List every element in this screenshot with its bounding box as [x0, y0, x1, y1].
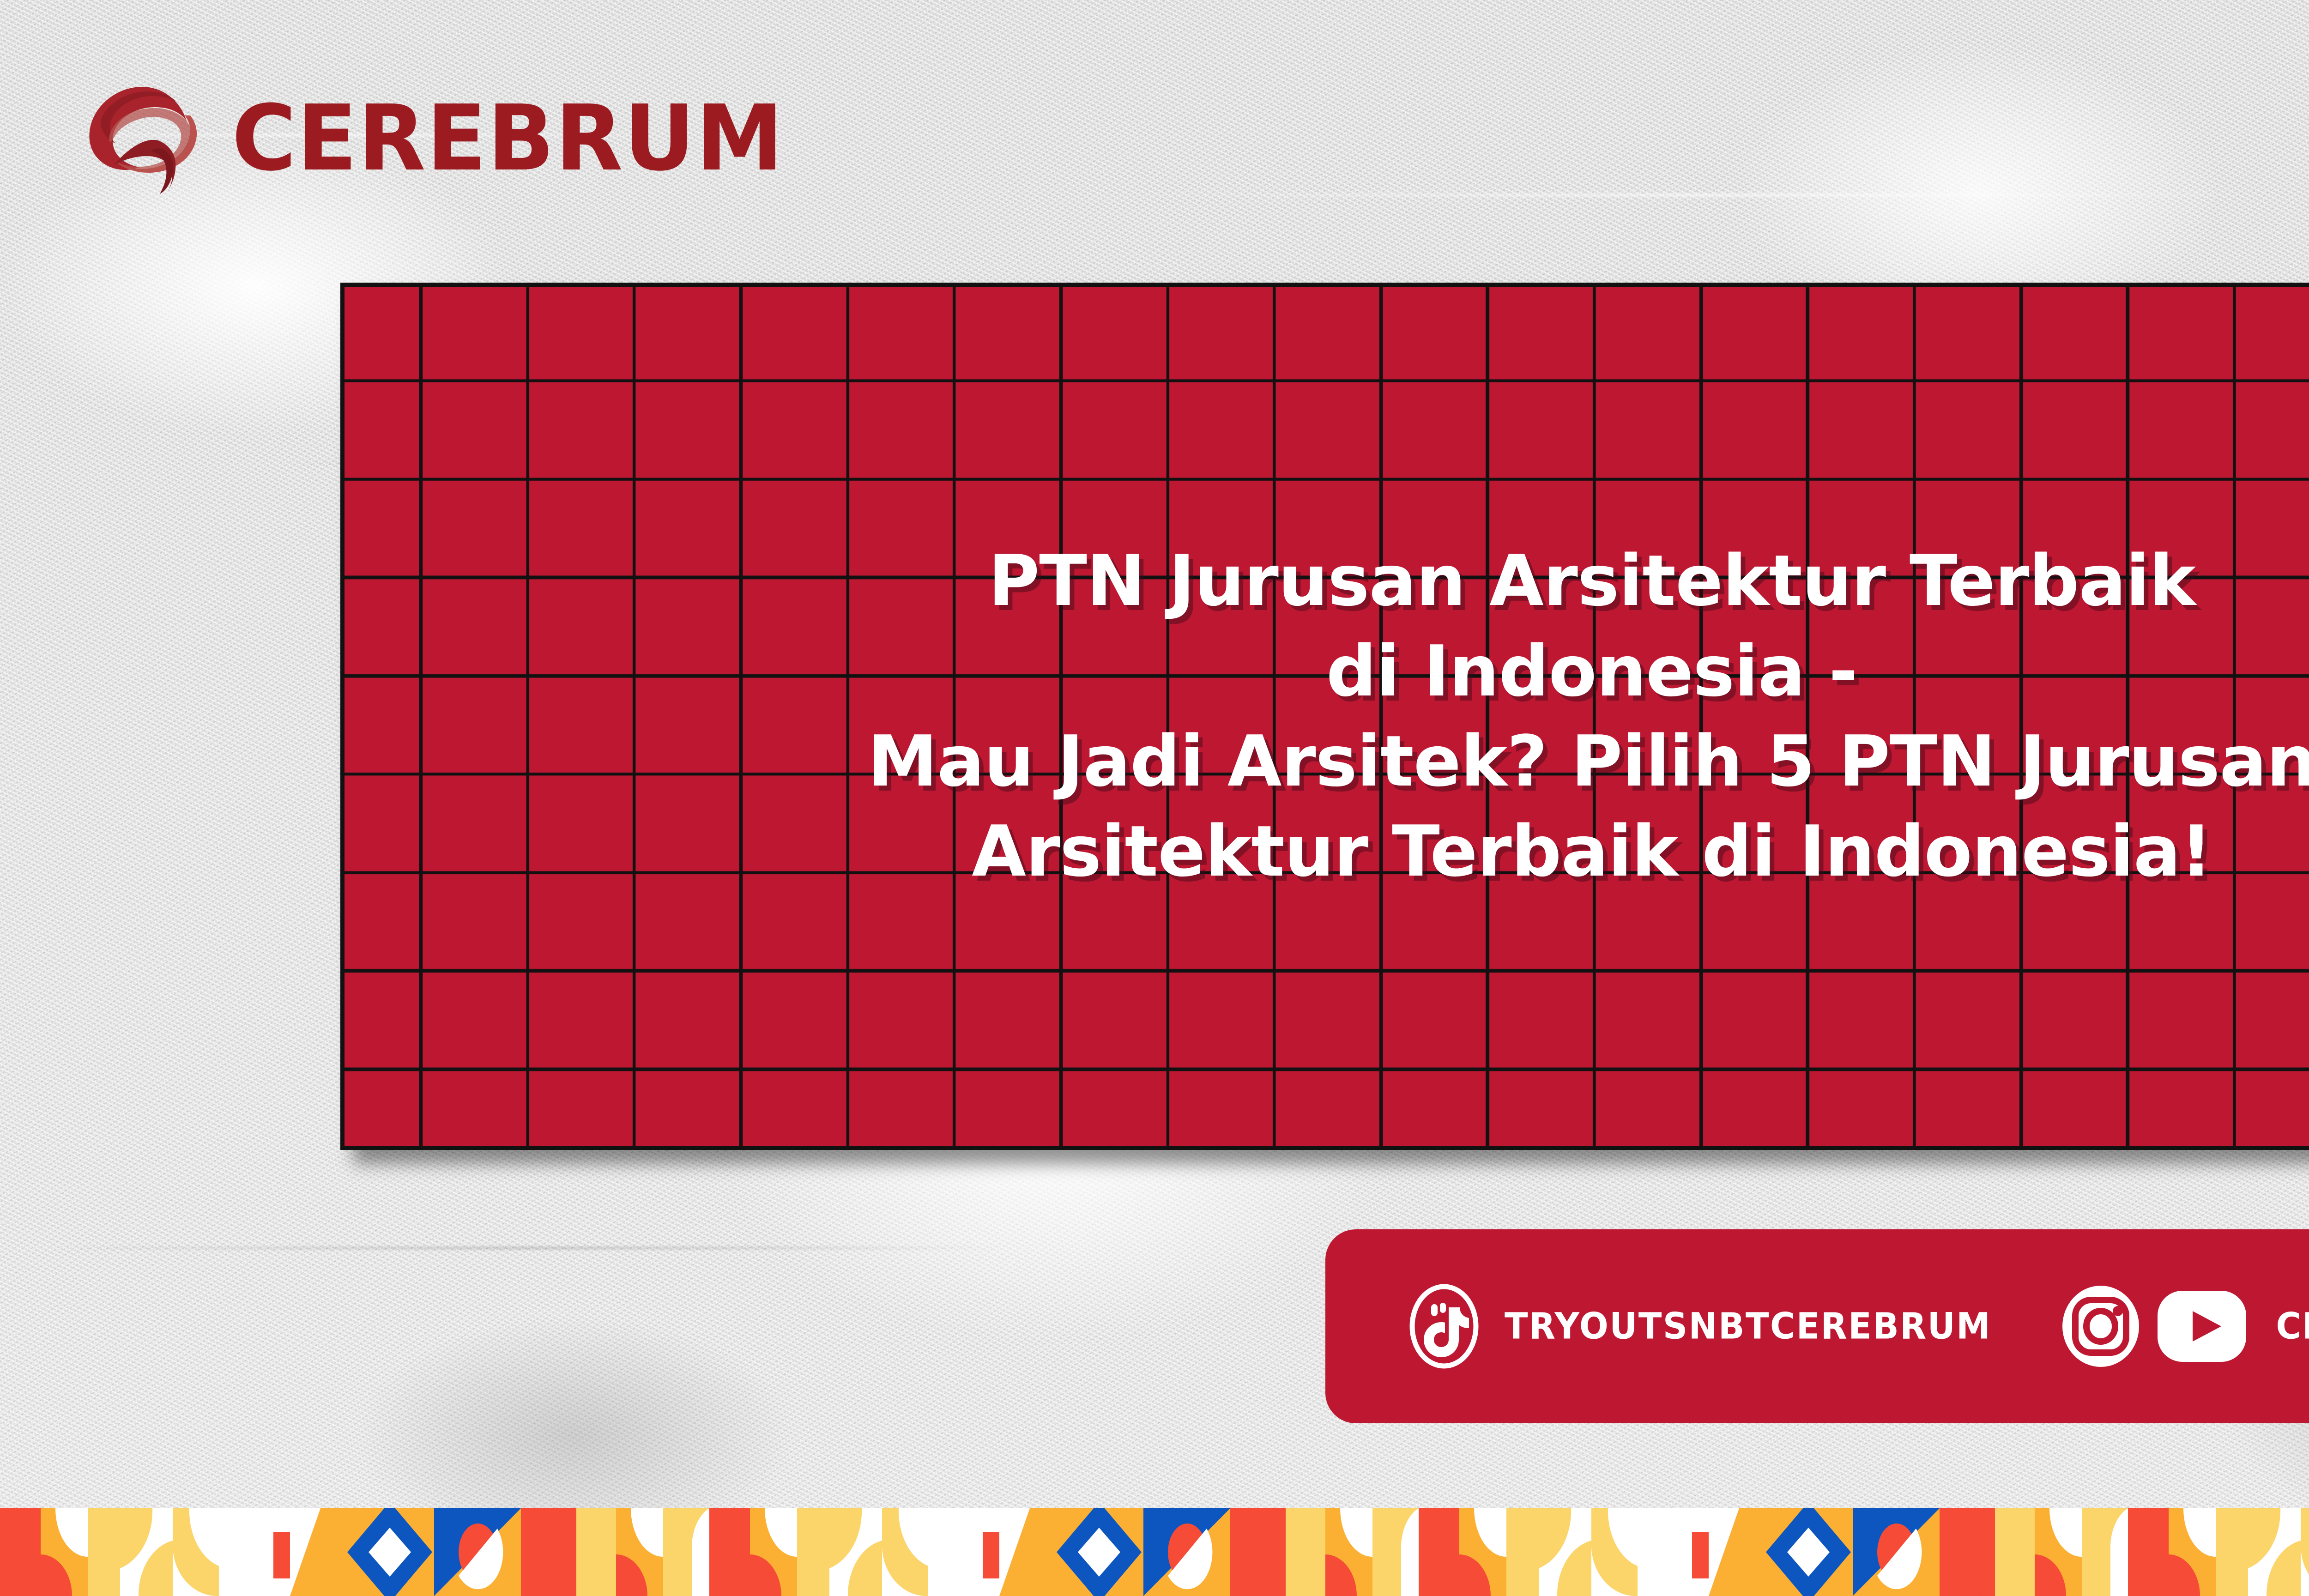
instagram-icon[interactable]: [2061, 1283, 2140, 1369]
social-account-tiktok[interactable]: TRYOUTSNBTCEREBRUM: [1409, 1283, 1991, 1369]
deco-tile-svg: [2128, 1508, 2309, 1596]
tiktok-handle: TRYOUTSNBTCEREBRUM: [1505, 1305, 1991, 1347]
social-media-bar: TRYOUTSNBTCEREBRUM CEREBRUM.ID: [1325, 1229, 2309, 1423]
deco-tile-svg: [709, 1508, 1419, 1596]
paper-crease: [1108, 194, 2309, 196]
deco-tile-svg: [1419, 1508, 2128, 1596]
brand-wordmark: CEREBRUM: [232, 93, 784, 184]
social-account-main[interactable]: CEREBRUM.ID: [2061, 1283, 2309, 1369]
deco-tile: [1419, 1508, 2128, 1596]
deco-tile-svg: [0, 1508, 709, 1596]
deco-tile: [0, 1508, 709, 1596]
deco-tile: [2128, 1508, 2309, 1596]
instagram-youtube-icon-pair[interactable]: [2061, 1283, 2248, 1369]
headline-line-3: Mau Jadi Arsitek? Pilih 5 PTN Jurusan: [868, 716, 2309, 806]
paper-crease: [46, 1247, 1016, 1249]
headline-line-2: di Indonesia -: [1326, 626, 1857, 716]
headline-text-block: PTN Jurusan Arsitektur Terbaik di Indone…: [340, 283, 2309, 1150]
bottom-decorative-pattern: [0, 1508, 2309, 1596]
headline-line-4: Arsitektur Terbaik di Indonesia!: [972, 806, 2212, 896]
headline-line-1: PTN Jurusan Arsitektur Terbaik: [988, 536, 2195, 626]
brand-logo[interactable]: CEREBRUM: [81, 83, 801, 194]
headline-panel: PTN Jurusan Arsitektur Terbaik di Indone…: [340, 283, 2309, 1150]
deco-tile: [709, 1508, 1419, 1596]
main-handle: CEREBRUM.ID: [2276, 1305, 2309, 1347]
youtube-icon[interactable]: [2156, 1289, 2248, 1364]
brain-swoosh-logo-icon: [81, 83, 207, 194]
tiktok-icon[interactable]: [1409, 1283, 1479, 1369]
